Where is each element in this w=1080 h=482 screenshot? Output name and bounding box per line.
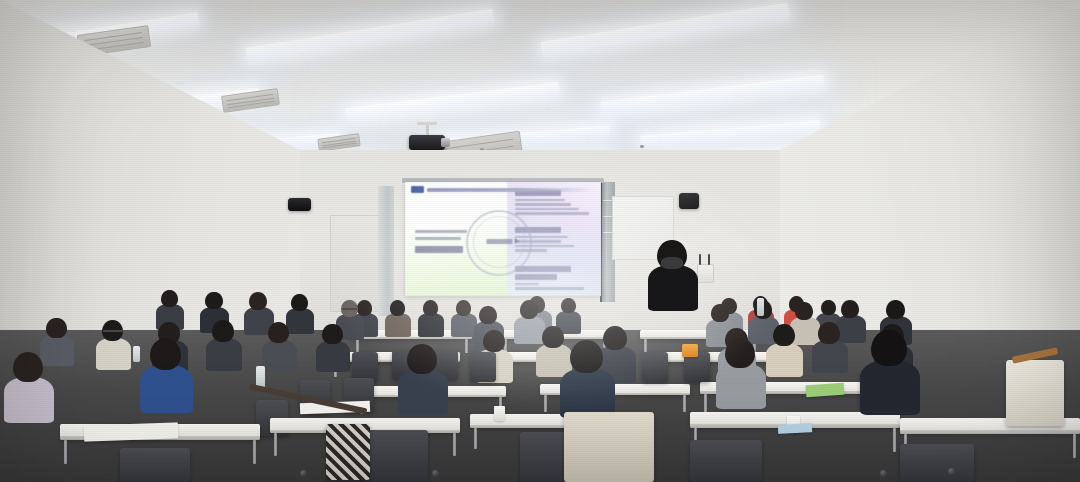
person-head — [821, 300, 836, 315]
blue-handout[interactable] — [778, 423, 812, 434]
desk-leg[interactable] — [893, 428, 896, 452]
paper-cup[interactable] — [494, 406, 505, 421]
audience-member — [262, 322, 297, 371]
tote-bag[interactable] — [1006, 360, 1064, 426]
person-head — [249, 292, 267, 310]
chair[interactable] — [360, 430, 428, 482]
person-head — [570, 340, 603, 373]
slide-block-line — [515, 199, 565, 201]
person-torso — [648, 265, 698, 311]
person-torso — [316, 341, 350, 372]
projector-mount — [417, 122, 437, 125]
audience-member — [398, 344, 448, 414]
person-head — [423, 300, 439, 316]
person-head — [13, 352, 43, 382]
coat-on-chair[interactable] — [564, 412, 654, 482]
blue-jacket-attendee — [140, 338, 193, 412]
slide-block-title — [515, 266, 571, 272]
projector-lens — [441, 138, 450, 147]
slide-block-line — [515, 208, 579, 210]
chair-caster[interactable] — [880, 470, 887, 477]
slide-block-line — [515, 212, 589, 214]
person-head — [841, 300, 859, 318]
face-mask-icon — [661, 257, 683, 269]
vent-slat — [84, 32, 142, 41]
wall-column-left — [378, 186, 394, 316]
person-head — [161, 290, 178, 307]
wall-panel-left — [330, 215, 384, 312]
slide-block-line — [515, 203, 571, 205]
slide-block-title-2 — [515, 274, 557, 280]
presenter-standing — [648, 240, 698, 310]
desk-leg[interactable] — [683, 395, 686, 412]
person-head — [291, 294, 308, 311]
chair[interactable] — [690, 440, 762, 482]
glasses-icon — [342, 308, 358, 310]
audience-member — [316, 324, 350, 372]
desk-leg[interactable] — [1073, 434, 1076, 458]
slide-header — [411, 185, 595, 194]
slide-content — [405, 182, 601, 296]
desk-edge — [352, 337, 472, 339]
chair[interactable] — [120, 448, 190, 482]
chair-caster[interactable] — [948, 468, 955, 475]
person-torso — [560, 368, 615, 419]
person-head — [456, 300, 472, 316]
person-head — [483, 330, 505, 352]
person-head — [212, 320, 234, 342]
person-head — [46, 318, 66, 338]
person-head — [795, 302, 813, 320]
glasses-icon — [103, 330, 123, 332]
person-torso — [398, 369, 448, 415]
person-head — [322, 324, 342, 344]
projection-screen — [405, 182, 601, 296]
person-torso — [385, 313, 411, 337]
slide-cta-label — [487, 238, 520, 244]
speaker-right-icon — [679, 193, 699, 209]
desk-leg[interactable] — [356, 339, 359, 353]
desk-leg[interactable] — [64, 440, 67, 464]
desk-leg[interactable] — [465, 339, 468, 353]
ceiling-sensor-icon — [640, 145, 644, 148]
person-head — [725, 338, 755, 368]
person-head — [205, 292, 222, 309]
person-torso — [418, 313, 444, 337]
slide-block-line — [515, 283, 539, 285]
slide-headline — [415, 246, 463, 253]
audience-member — [96, 320, 131, 369]
lavender-shirt-attendee — [4, 352, 54, 422]
desk-leg[interactable] — [274, 433, 277, 456]
person-head — [871, 330, 907, 366]
person-head — [150, 338, 182, 370]
person-head — [561, 298, 576, 313]
chair[interactable] — [642, 352, 668, 382]
checkered-bag[interactable] — [326, 424, 370, 480]
audience-member — [560, 340, 615, 417]
orange-box[interactable] — [682, 344, 698, 357]
desk-leg[interactable] — [253, 440, 256, 464]
person-head — [390, 300, 406, 316]
notebook[interactable] — [84, 422, 179, 441]
slide-header-text — [427, 188, 595, 192]
desk-leg[interactable] — [474, 428, 477, 449]
desk-edge — [900, 430, 1080, 434]
chair[interactable] — [470, 352, 496, 382]
person-head — [407, 344, 437, 374]
audience-member — [385, 300, 411, 336]
water-bottle[interactable] — [757, 298, 764, 316]
wifi-access-point-icon — [697, 264, 714, 283]
slide-block-3 — [515, 266, 595, 292]
projector-icon — [409, 135, 445, 150]
person-head — [520, 300, 539, 319]
person-torso — [766, 343, 803, 377]
slide-sub-line-1 — [415, 230, 467, 233]
audience-member — [418, 300, 444, 336]
desk-leg[interactable] — [544, 395, 547, 412]
person-head — [773, 324, 795, 346]
person-head — [818, 322, 840, 344]
seminar-room-photo — [0, 0, 1080, 482]
desk-leg[interactable] — [644, 339, 647, 353]
slide-sub-line-2 — [415, 237, 461, 240]
person-torso — [262, 340, 297, 372]
person-torso — [140, 365, 193, 414]
wifi-antenna-icon — [708, 254, 710, 265]
slide-cta-bar — [487, 239, 513, 244]
arrow-right-icon — [515, 238, 520, 244]
person-torso — [96, 338, 131, 370]
person-head — [268, 322, 289, 343]
person-torso — [812, 340, 848, 373]
audience-member — [812, 322, 848, 372]
desk-leg[interactable] — [453, 433, 456, 456]
black-quilted-jacket-attendee — [860, 330, 920, 414]
chair[interactable] — [900, 444, 974, 482]
wifi-antenna-icon — [699, 254, 701, 265]
audience-member — [766, 324, 803, 376]
person-torso — [860, 360, 920, 415]
person-torso — [4, 377, 54, 423]
water-bottle[interactable] — [133, 346, 140, 362]
slide-number-chip — [411, 186, 424, 193]
chair-caster[interactable] — [300, 470, 307, 477]
desk-leg[interactable] — [704, 394, 707, 412]
person-head — [711, 304, 729, 322]
person-torso — [206, 338, 242, 371]
grey-sweater-attendee — [716, 338, 766, 408]
slide-block-line — [515, 287, 584, 289]
person-head — [886, 300, 905, 319]
chair-caster[interactable] — [432, 470, 439, 477]
speaker-left-icon — [288, 198, 311, 211]
person-torso — [716, 363, 766, 409]
person-head — [479, 306, 497, 324]
audience-member — [206, 320, 242, 370]
